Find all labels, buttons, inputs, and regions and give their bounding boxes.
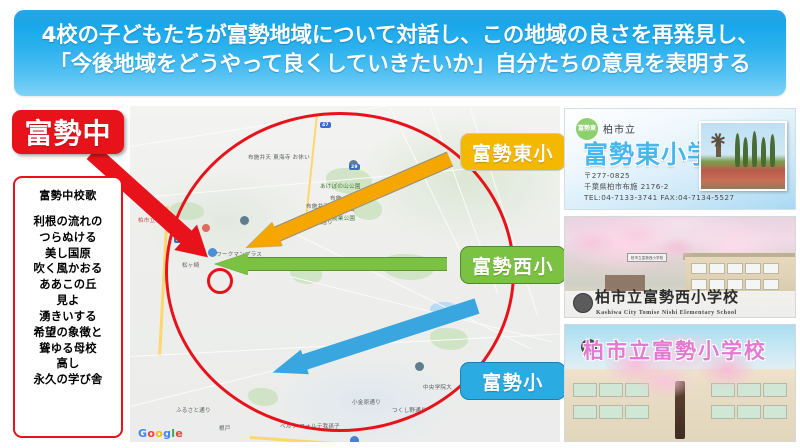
tree-shape bbox=[761, 137, 766, 167]
map-label: 中央学院大 bbox=[423, 383, 452, 391]
school-song-line: 高し bbox=[57, 356, 80, 372]
school-name-title: 柏市立富勢小学校 bbox=[583, 335, 767, 365]
arrow-head bbox=[215, 253, 248, 275]
school-song-line: 湧きいする bbox=[39, 309, 97, 325]
school-song-line: 美し国原 bbox=[45, 246, 91, 262]
map-route-shield: 47 bbox=[320, 122, 331, 128]
building-window bbox=[727, 263, 743, 274]
school-song-line: 見よ bbox=[57, 293, 80, 309]
school-signboard: 柏市立富勢西小学校 bbox=[627, 253, 667, 262]
tag-label-text: 富勢東小 bbox=[472, 139, 554, 166]
cherry-blossom-trees bbox=[565, 219, 715, 279]
map-route-shield: 29 bbox=[349, 164, 360, 170]
school-crest-icon bbox=[573, 293, 593, 313]
map-pin[interactable] bbox=[240, 216, 249, 225]
tag-tomise-higashi-sho[interactable]: 富勢東小 bbox=[460, 133, 566, 171]
map-pin[interactable] bbox=[350, 436, 359, 442]
google-watermark: Google bbox=[138, 427, 183, 440]
headline-banner: 4校の子どもたちが富勢地域について対話し、この地域の良さを再発見し、 「今後地域… bbox=[14, 10, 786, 96]
school-emblem-text: 富勢東 bbox=[578, 126, 596, 132]
school-song-line: 永久の学び舎 bbox=[34, 372, 103, 388]
school-photo-windmill bbox=[699, 121, 787, 191]
tree-shape bbox=[743, 137, 748, 167]
school-name-english: Kashiwa City Tomise Nishi Elementary Sch… bbox=[596, 310, 737, 316]
tree-shape bbox=[752, 131, 757, 167]
map-label: 小金原通り bbox=[352, 398, 381, 406]
school-song-line: 希望の象徴と bbox=[34, 325, 103, 341]
map-pin[interactable] bbox=[415, 362, 424, 371]
school-song-line: つらぬける bbox=[39, 230, 97, 246]
tag-label-text: 富勢小 bbox=[482, 368, 544, 395]
school-prefix-label: 柏市立 bbox=[603, 121, 636, 136]
tomise-chu-label-text: 富勢中 bbox=[24, 112, 111, 152]
building-window bbox=[745, 263, 761, 274]
building-window bbox=[763, 383, 787, 397]
building-window bbox=[763, 279, 779, 290]
school-card-tomise-sho[interactable]: 柏市立富勢小学校 bbox=[564, 324, 796, 442]
tag-label-text: 富勢西小 bbox=[472, 252, 554, 279]
map-label: つくし野通り bbox=[392, 406, 427, 414]
school-song-line: ああこの丘 bbox=[39, 277, 97, 293]
map-label: 根戸 bbox=[219, 424, 231, 432]
map-label: ベルク フォルテ我孫子 bbox=[280, 422, 340, 430]
school-card-tomise-nishi[interactable]: 柏市立富勢西小学校 柏市立富勢西小学校 Kashiwa City Tomise … bbox=[564, 216, 796, 318]
banner-line-1: 4校の子どもたちが富勢地域について対話し、この地域の良さを再発見し、 bbox=[41, 22, 758, 51]
building-window bbox=[745, 279, 761, 290]
school-song-line: 吹く風かおる bbox=[34, 261, 103, 277]
school-song-box: 富勢中校歌 利根の流れの つらぬける 美し国原 吹く風かおる ああこの丘 見よ … bbox=[13, 176, 123, 438]
school-song-line: 聳ゆる母校 bbox=[39, 341, 97, 357]
building-window bbox=[737, 405, 761, 419]
building-window bbox=[763, 405, 787, 419]
school-contact-numbers: TEL:04-7133-3741 FAX:04-7134-5527 bbox=[584, 193, 734, 204]
building-window bbox=[763, 263, 779, 274]
tree-shape bbox=[735, 133, 740, 167]
building-window bbox=[599, 405, 623, 419]
building-window bbox=[573, 405, 597, 419]
windmill-icon bbox=[711, 133, 725, 157]
slide-canvas: 4校の子どもたちが富勢地域について対話し、この地域の良さを再発見し、 「今後地域… bbox=[0, 0, 800, 448]
building-window bbox=[573, 383, 597, 397]
map-label: 布施弁天 東海寺 お休い bbox=[248, 153, 310, 161]
building-window bbox=[625, 405, 649, 419]
school-card-tomise-higashi[interactable]: 富勢東 柏市立 富勢東小学校 〒277-0825 千葉県柏市布施 2176-2 … bbox=[564, 108, 796, 210]
banner-line-2: 「今後地域をどうやって良くしていきたいか」自分たちの意見を表明する bbox=[49, 51, 750, 80]
tree-shape bbox=[770, 134, 775, 167]
building-window bbox=[711, 405, 735, 419]
tag-tomise-nishi-sho[interactable]: 富勢西小 bbox=[460, 246, 566, 284]
school-song-line: 利根の流れの bbox=[34, 214, 103, 230]
arrow-tomise-nishi bbox=[215, 253, 447, 275]
school-name-japanese: 柏市立富勢西小学校 bbox=[595, 286, 739, 307]
tomise-chu-label[interactable]: 富勢中 bbox=[12, 110, 124, 154]
school-song-title: 富勢中校歌 bbox=[39, 187, 97, 203]
arrow-shaft bbox=[247, 257, 447, 271]
map-label: ふるさと通り bbox=[176, 406, 211, 414]
tag-tomise-sho[interactable]: 富勢小 bbox=[460, 362, 566, 400]
